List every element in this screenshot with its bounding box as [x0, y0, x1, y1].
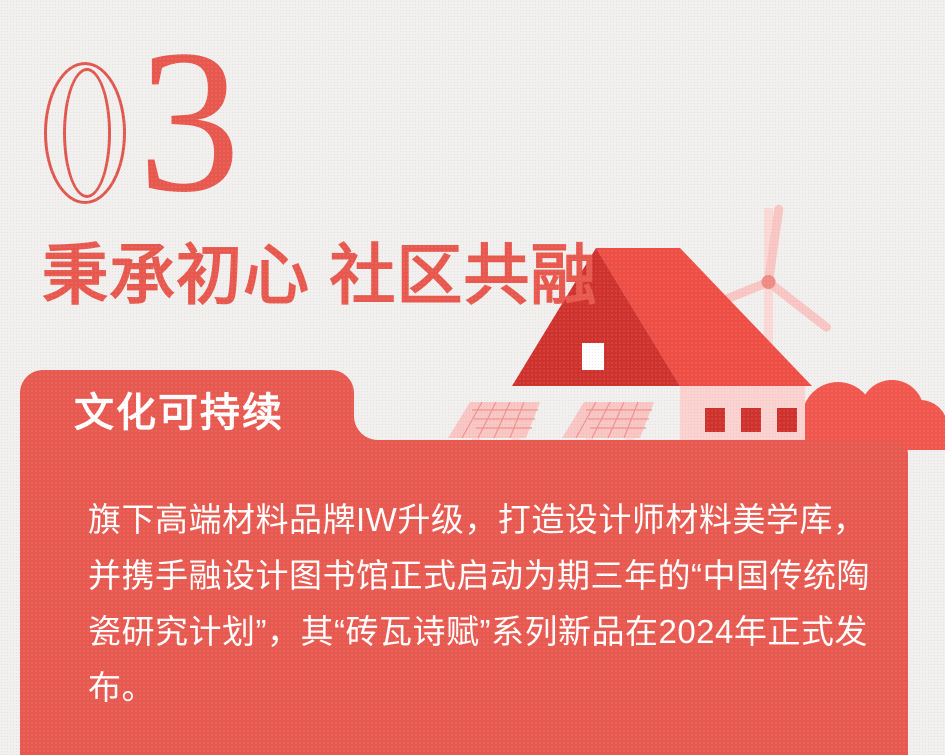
content-card: 文化可持续 旗下高端材料品牌IW升级，打造设计师材料美学库，并携手融设计图书馆正…: [20, 370, 908, 755]
body-paragraph: 旗下高端材料品牌IW升级，打造设计师材料美学库，并携手融设计图书馆正式启动为期三…: [88, 492, 888, 716]
page-title: 秉承初心 社区共融: [42, 242, 597, 308]
section-number-three: 3: [138, 48, 239, 196]
poster-canvas: 3 秉承初心 社区共融 文化可持续 旗下高端材料品牌IW升级，打造设计师材料美学…: [0, 0, 945, 755]
body-paragraph-text: 旗下高端材料品牌IW升级，打造设计师材料美学库，并携手融设计图书馆正式启动为期三…: [88, 492, 888, 716]
section-number: 3: [44, 62, 239, 212]
section-number-zero: [44, 62, 132, 204]
tab-label: 文化可持续: [74, 393, 284, 433]
